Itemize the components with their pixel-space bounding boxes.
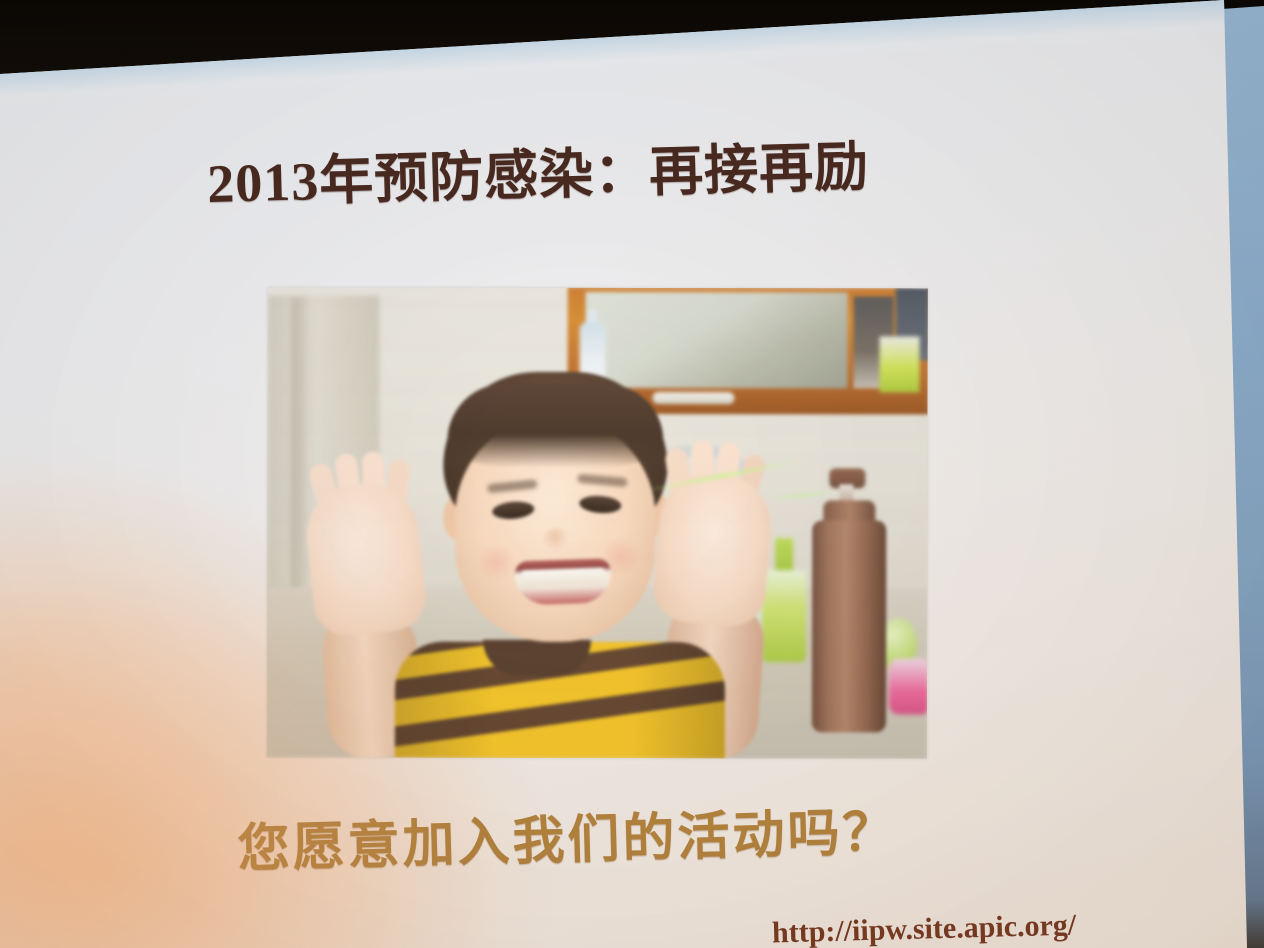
projection-screen: 2013年预防感染：再接再励 bbox=[0, 0, 1264, 948]
handwashing-boy-photo bbox=[267, 287, 928, 758]
slide-title: 2013年预防感染：再接再励 bbox=[206, 117, 1038, 218]
slide-content: 2013年预防感染：再接再励 bbox=[0, 0, 1264, 948]
slide-subtitle: 您愿意加入我们的活动吗？ bbox=[237, 785, 1059, 881]
projected-slide-scene: 2013年预防感染：再接再励 bbox=[0, 0, 1264, 948]
slide-url: http://iipw.site.apic.org/ bbox=[772, 909, 1077, 948]
photo-projection-softness bbox=[267, 287, 928, 758]
